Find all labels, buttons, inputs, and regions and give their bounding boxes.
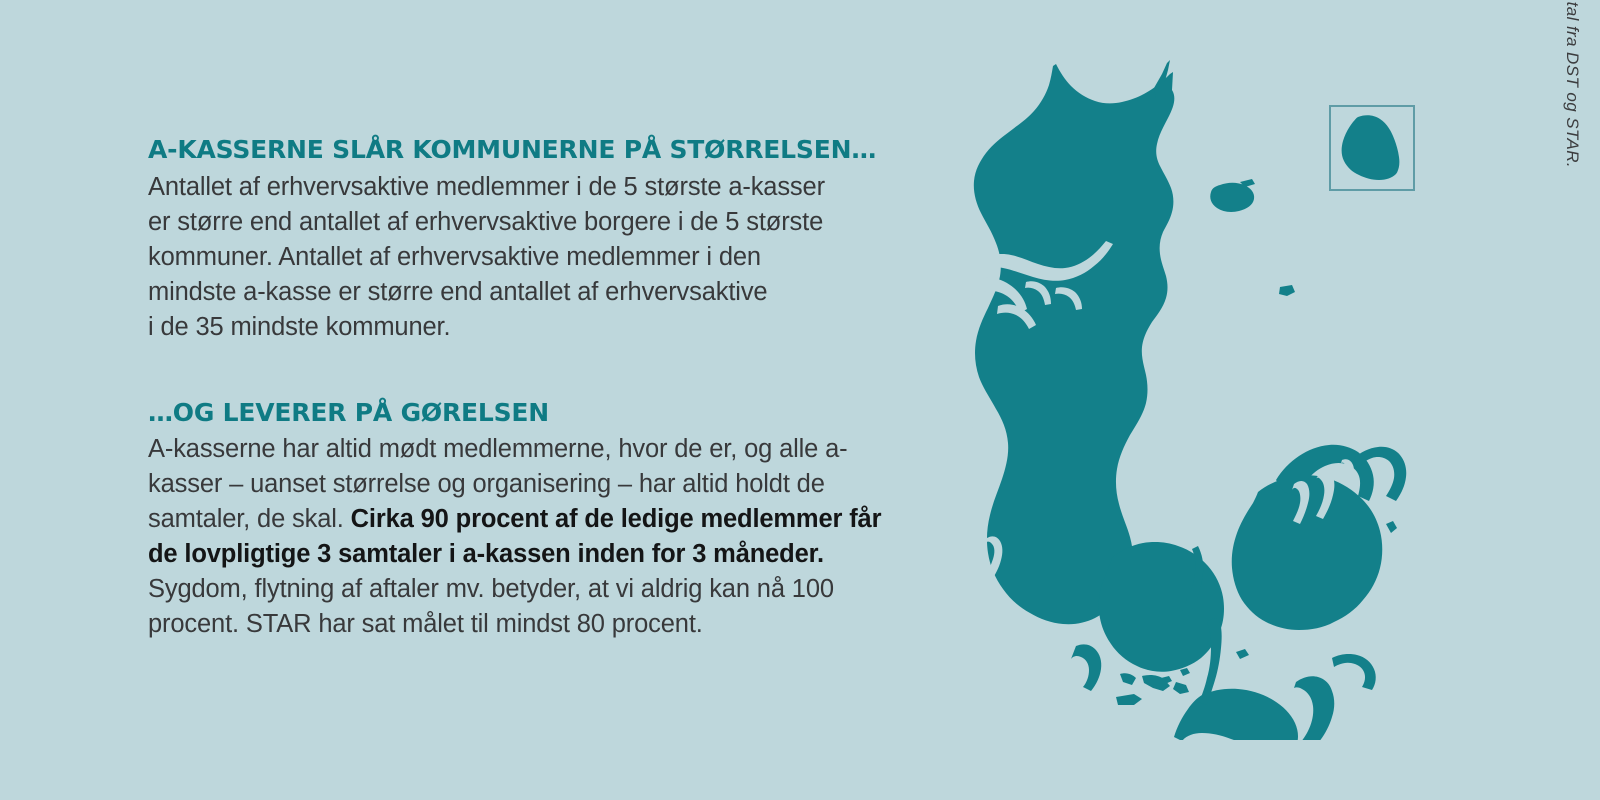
heading-a-kasserne-slaar-kommunerne: A-KASSERNE SLÅR KOMMUNERNE PÅ STØRRELSEN… [148, 136, 908, 164]
map-region-bornholm [1342, 115, 1400, 180]
text-block-delivery: …OG LEVERER PÅ GØRELSEN A-kasserne har a… [148, 399, 908, 643]
paragraph-line: kommuner. Antallet af erhvervsaktive med… [148, 243, 761, 271]
paragraph-line: Antallet af erhvervsaktive medlemmer i d… [148, 173, 825, 201]
map-region-jutland [974, 64, 1175, 624]
map-region-moen [1332, 654, 1376, 690]
map-water-ringkobing [959, 427, 982, 504]
map-region-lolland [1174, 689, 1298, 740]
heading-og-leverer-paa-goerelsen: …OG LEVERER PÅ GØRELSEN [148, 399, 908, 427]
paragraph-line: er større end antallet af erhvervsaktive… [148, 208, 823, 236]
map-region-laeso [1210, 179, 1255, 212]
paragraph-size: Antallet af erhvervsaktive medlemmer i d… [148, 170, 908, 345]
map-region-funen-south [1120, 673, 1189, 694]
map-region-islet-b [1180, 668, 1190, 676]
paragraph-delivery: A-kasserne har altid mødt medlemmerne, h… [148, 432, 908, 642]
map-region-islet-c [1236, 649, 1249, 659]
block-spacer [148, 345, 908, 399]
paragraph-line: mindste a-kasse er større end antallet a… [148, 278, 767, 306]
map-region-aero [1116, 694, 1142, 705]
text-column: A-KASSERNE SLÅR KOMMUNERNE PÅ STØRRELSEN… [148, 136, 908, 642]
map-region-falster [1292, 676, 1334, 740]
map-region-anholt [1279, 285, 1295, 296]
map-region-funen [1099, 542, 1224, 672]
source-credit: Kilde: DAK på baggrund af tal fra DST og… [1562, 0, 1582, 168]
paragraph-tail-text: Sygdom, flytning af aftaler mv. betyder,… [148, 575, 834, 638]
infographic-canvas: A-KASSERNE SLÅR KOMMUNERNE PÅ STØRRELSEN… [0, 0, 1600, 800]
map-region-hesselo [1386, 521, 1397, 533]
paragraph-line: i de 35 mindste kommuner. [148, 313, 450, 341]
map-region-als [1071, 644, 1101, 691]
denmark-map [880, 60, 1520, 740]
text-block-size: A-KASSERNE SLÅR KOMMUNERNE PÅ STØRRELSEN… [148, 136, 908, 345]
